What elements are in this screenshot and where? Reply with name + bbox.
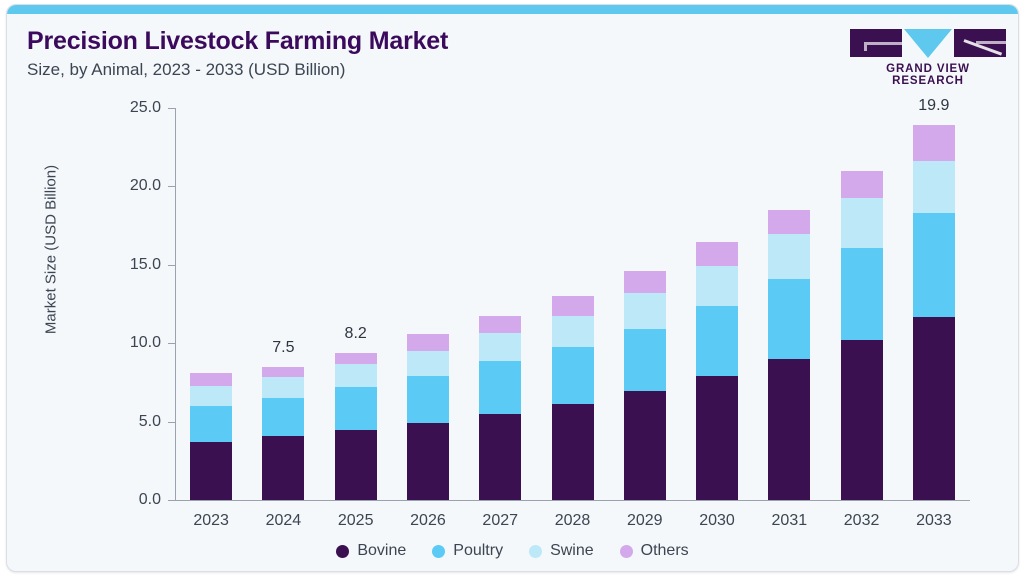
legend-item[interactable]: Bovine [336,542,406,560]
bar-segment-others[interactable] [335,353,377,365]
bar-stack[interactable] [479,108,521,500]
bar-segment-others[interactable] [913,125,955,161]
y-axis-tick-label: 20.0 [109,177,161,195]
bar-segment-poultry[interactable] [335,387,377,430]
x-axis-tick-label: 2025 [316,512,396,530]
legend-swatch-icon [336,545,349,558]
y-axis-line [175,108,176,500]
bar-segment-poultry[interactable] [190,406,232,442]
legend-swatch-icon [432,545,445,558]
bar-segment-poultry[interactable] [262,398,304,436]
bar-value-label: 8.2 [321,325,391,343]
bar-segment-swine[interactable] [407,351,449,376]
y-axis-tick-label: 15.0 [109,256,161,274]
x-axis-tick-label: 2024 [243,512,323,530]
screenshot-root: Precision Livestock Farming Market Size,… [0,0,1025,576]
bar-segment-bovine[interactable] [624,391,666,500]
bar-segment-poultry[interactable] [552,347,594,403]
bar-segment-bovine[interactable] [262,436,304,500]
chart-plot-area: Market Size (USD Billion) 0.05.010.015.0… [7,5,1018,571]
y-axis-tick [168,265,175,266]
y-axis-tick [168,186,175,187]
bar-segment-poultry[interactable] [696,306,738,377]
x-axis-line [175,500,970,501]
y-axis-tick-label: 5.0 [109,413,161,431]
bar-segment-swine[interactable] [190,386,232,406]
legend-label: Swine [550,542,594,560]
y-axis-tick-label: 10.0 [109,334,161,352]
bar-stack[interactable] [624,108,666,500]
y-axis-tick [168,343,175,344]
x-axis-tick-label: 2030 [677,512,757,530]
y-axis-title: Market Size (USD Billion) [43,140,60,360]
legend-item[interactable]: Poultry [432,542,503,560]
bar-segment-poultry[interactable] [768,279,810,359]
bar-segment-bovine[interactable] [335,430,377,500]
x-axis-tick-label: 2032 [822,512,902,530]
chart-legend: BovinePoultrySwineOthers [7,542,1018,560]
legend-label: Others [641,542,689,560]
bar-stack[interactable] [841,108,883,500]
bar-segment-bovine[interactable] [190,442,232,500]
bar-segment-swine[interactable] [913,161,955,213]
x-axis-tick-label: 2028 [533,512,613,530]
bar-segment-others[interactable] [841,171,883,198]
bar-segment-swine[interactable] [841,198,883,248]
bar-segment-others[interactable] [552,296,594,316]
bar-segment-others[interactable] [190,373,232,386]
bar-segment-bovine[interactable] [479,414,521,500]
bar-segment-swine[interactable] [624,293,666,329]
bar-stack[interactable] [335,108,377,500]
bar-segment-poultry[interactable] [913,213,955,316]
x-axis-tick-label: 2026 [388,512,468,530]
bar-segment-others[interactable] [624,271,666,293]
bar-segment-poultry[interactable] [624,329,666,391]
bar-segment-swine[interactable] [768,234,810,279]
legend-item[interactable]: Swine [529,542,594,560]
y-axis-tick [168,422,175,423]
y-axis-tick [168,108,175,109]
bar-segment-swine[interactable] [552,316,594,347]
bar-segment-bovine[interactable] [913,317,955,500]
chart-card: Precision Livestock Farming Market Size,… [6,4,1019,572]
bar-segment-poultry[interactable] [407,376,449,423]
bar-segment-bovine[interactable] [841,340,883,500]
legend-label: Bovine [357,542,406,560]
legend-label: Poultry [453,542,503,560]
bar-stack[interactable] [552,108,594,500]
bar-segment-others[interactable] [479,316,521,333]
bar-segment-bovine[interactable] [552,404,594,500]
bar-stack[interactable] [696,108,738,500]
legend-swatch-icon [529,545,542,558]
y-axis-tick-label: 0.0 [109,491,161,509]
bar-segment-others[interactable] [262,367,304,377]
x-axis-tick-label: 2023 [171,512,251,530]
bar-segment-others[interactable] [407,334,449,351]
bar-segment-bovine[interactable] [407,423,449,500]
bar-stack[interactable] [262,108,304,500]
bar-stack[interactable] [407,108,449,500]
bar-segment-poultry[interactable] [841,248,883,340]
bar-value-label: 19.9 [899,97,969,115]
bar-segment-swine[interactable] [335,364,377,387]
bar-value-label: 7.5 [248,339,318,357]
bar-segment-others[interactable] [696,242,738,266]
bar-stack[interactable] [190,108,232,500]
x-axis-tick-label: 2033 [894,512,974,530]
legend-item[interactable]: Others [620,542,689,560]
bar-segment-poultry[interactable] [479,361,521,414]
x-axis-tick-label: 2027 [460,512,540,530]
bar-segment-swine[interactable] [696,266,738,305]
bar-segment-swine[interactable] [479,333,521,361]
bar-stack[interactable] [768,108,810,500]
bar-segment-bovine[interactable] [696,376,738,500]
bar-segment-others[interactable] [768,210,810,234]
x-axis-tick-label: 2031 [749,512,829,530]
y-axis-tick [168,500,175,501]
x-axis-tick-label: 2029 [605,512,685,530]
bar-segment-bovine[interactable] [768,359,810,500]
bar-stack[interactable] [913,108,955,500]
y-axis-tick-label: 25.0 [109,99,161,117]
legend-swatch-icon [620,545,633,558]
bar-segment-swine[interactable] [262,377,304,398]
